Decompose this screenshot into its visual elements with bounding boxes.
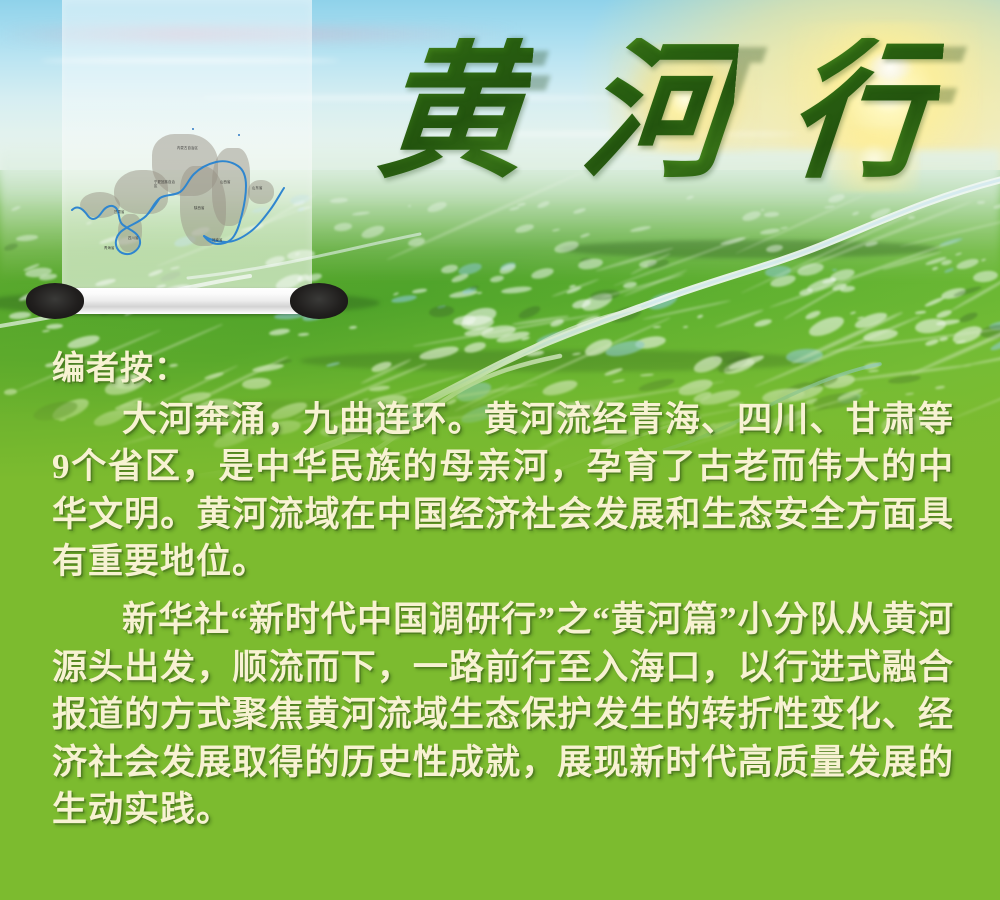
hanging-scroll: 内蒙古自治区 宁夏回族自治区 山西省 陕西省 甘肃省 青海省 河南省 山东省 四… — [62, 0, 312, 320]
marsh-pond — [572, 207, 585, 215]
marsh-pond — [408, 205, 412, 208]
yellow-river-basin-map: 内蒙古自治区 宁夏回族自治区 山西省 陕西省 甘肃省 青海省 河南省 山东省 四… — [62, 118, 312, 278]
marsh-pond — [514, 223, 534, 234]
map-province-label: 山西省 — [220, 180, 230, 184]
marsh-pond — [330, 197, 348, 203]
marsh-pond — [501, 285, 533, 295]
marsh-pond — [870, 206, 892, 220]
map-city-dot — [238, 134, 240, 136]
editors-note-kicker: 编者按： — [52, 352, 954, 388]
roller-knob-left — [26, 283, 84, 319]
yellow-river-course — [62, 118, 312, 278]
marsh-pond — [393, 292, 399, 296]
marsh-pond — [334, 222, 353, 232]
marsh-pond — [944, 267, 954, 273]
marsh-pond — [360, 223, 386, 241]
editors-note-paragraph: 新华社“新时代中国调研行”之“黄河篇”小分队从黄河源头出发，顺流而下，一路前行至… — [52, 596, 954, 834]
marsh-pond — [498, 262, 516, 276]
marsh-pond — [972, 269, 998, 283]
editors-note: 编者按： 大河奔涌，九曲连环。黄河流经青海、四川、甘肃等9个省区，是中华民族的母… — [0, 352, 1000, 838]
marsh-pond — [509, 206, 521, 212]
marsh-pond — [11, 205, 21, 212]
title-char-3: 行 — [781, 38, 944, 188]
marsh-pond — [977, 201, 985, 204]
marsh-pond — [531, 267, 555, 282]
marsh-pond — [536, 199, 550, 209]
map-province-label: 内蒙古自治区 — [177, 146, 198, 150]
map-province-label: 山东省 — [252, 186, 262, 190]
marsh-pond — [761, 209, 765, 211]
marsh-pond — [476, 291, 481, 294]
map-province-label: 河南省 — [212, 238, 222, 242]
marsh-pond — [741, 209, 762, 222]
marsh-pond — [954, 252, 961, 256]
marsh-pond — [993, 203, 1000, 210]
title-char-1: 黄 — [371, 38, 534, 188]
scroll-paper: 内蒙古自治区 宁夏回族自治区 山西省 陕西省 甘肃省 青海省 河南省 山东省 四… — [62, 0, 312, 290]
marsh-pond — [15, 234, 38, 242]
marsh-pond — [490, 274, 505, 283]
page-title: 黄 河 行 — [378, 28, 938, 198]
map-province-label: 四川省 — [128, 236, 138, 240]
marsh-pond — [851, 211, 858, 216]
marsh-pond — [580, 233, 590, 239]
ridge-line — [560, 240, 940, 258]
marsh-pond — [764, 212, 779, 218]
roller-bar — [62, 288, 312, 314]
marsh-pond — [3, 242, 18, 252]
title-char-2: 河 — [576, 38, 739, 188]
map-city-dot — [192, 128, 194, 130]
marsh-pond — [352, 211, 370, 216]
marsh-pond — [412, 288, 427, 294]
marsh-pond — [955, 257, 979, 271]
marsh-pond — [908, 216, 915, 220]
marsh-pond — [931, 266, 938, 270]
marsh-pond — [980, 258, 985, 262]
map-province-label: 陕西省 — [194, 206, 204, 210]
marsh-pond — [426, 200, 448, 214]
marsh-pond — [630, 225, 651, 233]
marsh-pond — [450, 272, 469, 284]
marsh-pond — [551, 228, 560, 232]
map-province-label: 甘肃省 — [114, 210, 124, 214]
roller-knob-right — [290, 283, 348, 319]
map-province-label: 宁夏回族自治区 — [154, 180, 176, 189]
scroll-roller — [26, 283, 348, 319]
marsh-pond — [440, 264, 458, 275]
map-province-label: 青海省 — [104, 246, 114, 250]
poster-root: 黄 河 行 内蒙 — [0, 0, 1000, 900]
editors-note-paragraph: 大河奔涌，九曲连环。黄河流经青海、四川、甘肃等9个省区，是中华民族的母亲河，孕育… — [52, 396, 954, 586]
